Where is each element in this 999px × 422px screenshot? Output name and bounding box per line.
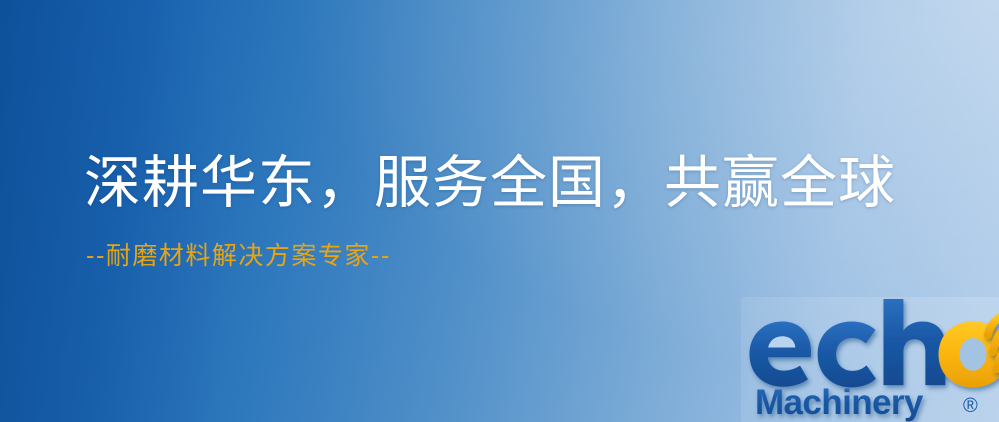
registered-trademark-icon: ®	[963, 395, 978, 417]
promo-banner: 深耕华东，服务全国，共赢全球 --耐磨材料解决方案专家-- echo Machi…	[0, 0, 999, 422]
logo-graphic: Machinery ®	[741, 297, 999, 422]
logo-letter-h	[884, 299, 946, 385]
company-logo[interactable]: echo Machinery ®	[741, 297, 999, 422]
logo-letter-c	[818, 322, 876, 388]
banner-subheadline: --耐磨材料解决方案专家--	[86, 240, 954, 273]
banner-headline: 深耕华东，服务全国，共赢全球	[84, 150, 954, 216]
logo-tagline-machinery: Machinery	[755, 383, 924, 422]
logo-wordmark-echo	[750, 299, 999, 387]
logo-letter-e	[750, 322, 812, 387]
banner-copy: 深耕华东，服务全国，共赢全球 --耐磨材料解决方案专家--	[84, 150, 954, 273]
